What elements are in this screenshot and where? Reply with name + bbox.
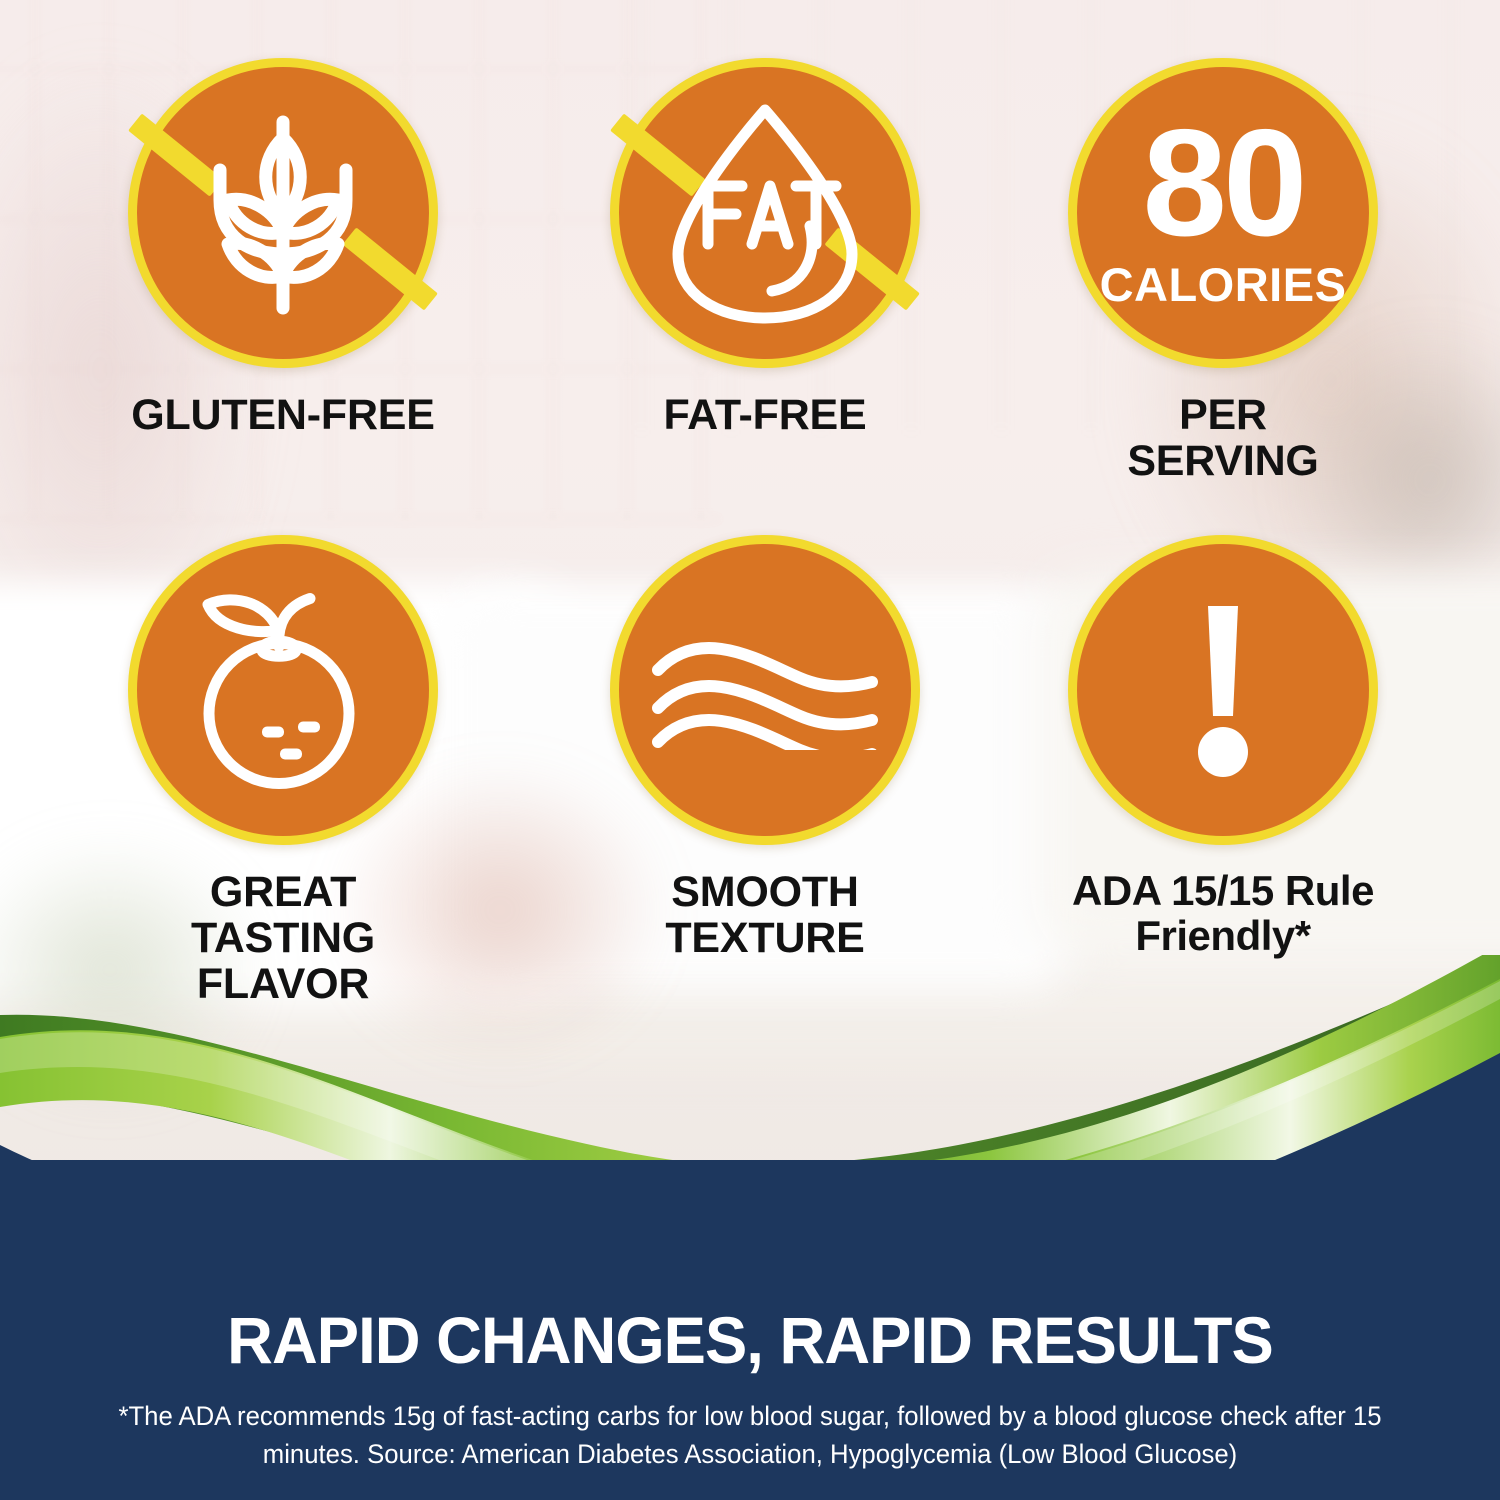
badge-label-ada-rule: ADA 15/15 Rule Friendly* <box>1068 869 1378 959</box>
fat-droplet-icon <box>660 98 870 328</box>
fat-free-circle <box>610 58 920 368</box>
calorie-number: 80 <box>1142 114 1303 254</box>
badge-label-per-serving: PER SERVING <box>1068 392 1378 484</box>
wavy-lines-icon <box>650 630 880 750</box>
great-tasting-flavor-circle <box>128 535 438 845</box>
exclamation-mark-icon <box>1188 600 1258 780</box>
calories-circle: 80 CALORIES <box>1068 58 1378 368</box>
badge-calories: 80 CALORIES PER SERVING <box>1068 58 1378 484</box>
wheat-stalk-icon <box>188 108 378 318</box>
ada-rule-circle <box>1068 535 1378 845</box>
badge-smooth-texture: SMOOTH TEXTURE <box>610 535 920 961</box>
badge-great-tasting-flavor: GREAT TASTING FLAVOR <box>128 535 438 1007</box>
gluten-free-circle <box>128 58 438 368</box>
badge-label-gluten-free: GLUTEN-FREE <box>128 392 438 438</box>
badge-label-fat-free: FAT-FREE <box>610 392 920 438</box>
smooth-texture-circle <box>610 535 920 845</box>
orange-fruit-icon <box>174 583 384 798</box>
badge-fat-free: FAT-FREE <box>610 58 920 438</box>
badge-label-smooth-texture: SMOOTH TEXTURE <box>610 869 920 961</box>
calorie-count-icon: 80 CALORIES <box>1077 67 1369 359</box>
footer-disclaimer: *The ADA recommends 15g of fast-acting c… <box>100 1397 1400 1474</box>
footer-headline: RAPID CHANGES, RAPID RESULTS <box>30 1302 1470 1378</box>
badge-gluten-free: GLUTEN-FREE <box>128 58 438 438</box>
badge-ada-rule: ADA 15/15 Rule Friendly* <box>1068 535 1378 959</box>
calorie-unit: CALORIES <box>1100 257 1347 312</box>
